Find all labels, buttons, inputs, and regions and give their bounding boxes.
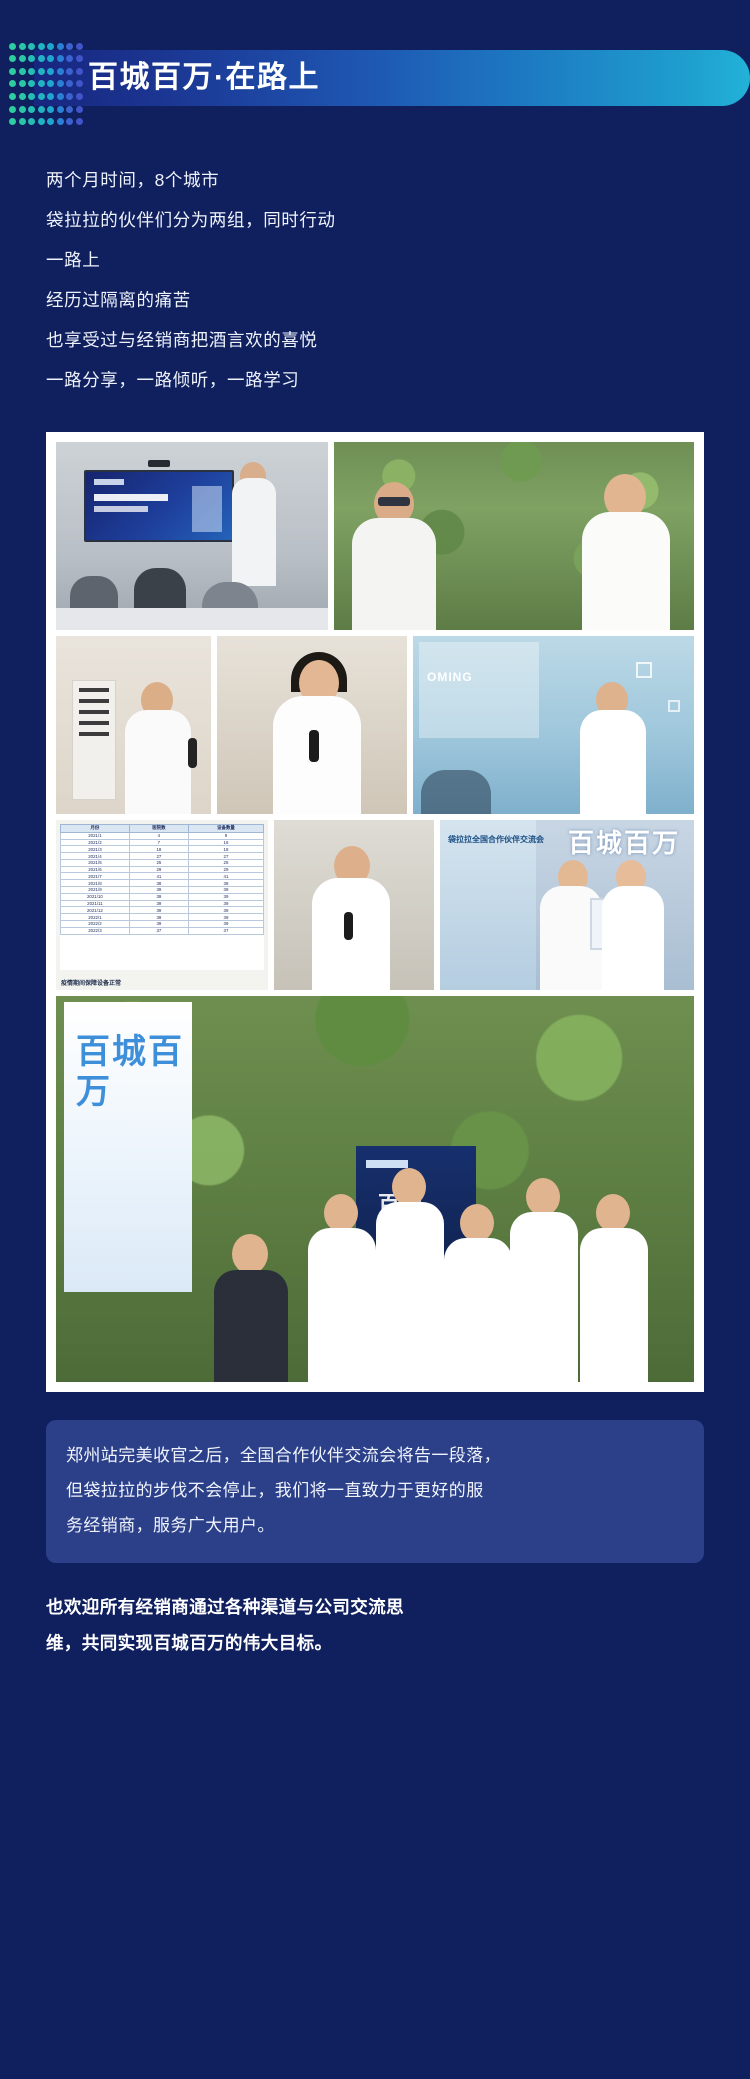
intro-line: 一路上 bbox=[46, 240, 704, 280]
collage-row-3: 月份医院数设备数量2021/1492021/27162021/318182021… bbox=[56, 820, 694, 990]
dot bbox=[57, 118, 64, 125]
table-cell: 27 bbox=[188, 853, 263, 860]
person-head bbox=[596, 1194, 630, 1232]
dot bbox=[28, 68, 35, 75]
speaker-body bbox=[232, 478, 276, 586]
dot bbox=[47, 55, 54, 62]
table-cell: 39 bbox=[129, 914, 188, 921]
backdrop-wall bbox=[440, 820, 536, 990]
page-title: 百城百万·在路上 bbox=[88, 50, 320, 106]
photo-conference-room bbox=[56, 442, 328, 630]
dot bbox=[47, 118, 54, 125]
person-head bbox=[324, 1194, 358, 1232]
closing-line: 但袋拉拉的步伐不会停止，我们将一直致力于更好的服 bbox=[66, 1473, 684, 1508]
person-head bbox=[392, 1168, 426, 1206]
table-cell: 41 bbox=[129, 873, 188, 880]
dot bbox=[28, 93, 35, 100]
table-cell: 25 bbox=[188, 859, 263, 866]
collage-row-2: OMING bbox=[56, 636, 694, 814]
header-dot-pattern-icon bbox=[8, 40, 84, 128]
dot bbox=[57, 80, 64, 87]
person-body bbox=[352, 518, 436, 630]
intro-line: 经历过隔离的痛苦 bbox=[46, 280, 704, 320]
final-statement: 也欢迎所有经销商通过各种渠道与公司交流思 维，共同实现百城百万的伟大目标。 bbox=[46, 1589, 704, 1661]
table-cell: 9 bbox=[188, 832, 263, 839]
dot bbox=[9, 68, 16, 75]
brand-logo-icon bbox=[94, 479, 124, 485]
photo-woman-speaking bbox=[217, 636, 407, 814]
table-cell: 2021/7 bbox=[61, 873, 130, 880]
hospital-device-table: 月份医院数设备数量2021/1492021/27162021/318182021… bbox=[60, 824, 264, 935]
table-row: 2021/74141 bbox=[61, 873, 264, 880]
table-row: 2022/13939 bbox=[61, 914, 264, 921]
table-cell: 39 bbox=[129, 920, 188, 927]
dot bbox=[57, 43, 64, 50]
final-line: 也欢迎所有经销商通过各种渠道与公司交流思 bbox=[46, 1589, 704, 1625]
dot bbox=[47, 43, 54, 50]
dot bbox=[66, 106, 73, 113]
table-cell: 2022/3 bbox=[61, 927, 130, 934]
photo-collage: OMING 月份医院数设备数量2021/1492021/27162021/318… bbox=[46, 432, 704, 1392]
table-row: 2021/83838 bbox=[61, 880, 264, 887]
event-poster: 百城百万 bbox=[64, 1002, 192, 1292]
person-body bbox=[510, 1212, 578, 1382]
dot bbox=[28, 43, 35, 50]
table-cell: 39 bbox=[188, 900, 263, 907]
photo-caption: 疫情期间保障设备正常 bbox=[61, 978, 121, 987]
table-cell: 29 bbox=[129, 866, 188, 873]
dot bbox=[28, 118, 35, 125]
data-table-wrapper: 月份医院数设备数量2021/1492021/27162021/318182021… bbox=[60, 824, 264, 970]
table-row: 2022/33737 bbox=[61, 927, 264, 934]
table-cell: 38 bbox=[188, 880, 263, 887]
table-cell: 27 bbox=[129, 853, 188, 860]
dot bbox=[66, 118, 73, 125]
banner-text: OMING bbox=[427, 670, 473, 684]
table-header: 医院数 bbox=[129, 825, 188, 833]
closing-line: 务经销商，服务广大用户。 bbox=[66, 1508, 684, 1543]
table-cell: 37 bbox=[129, 927, 188, 934]
dot bbox=[66, 80, 73, 87]
table-row: 2021/42727 bbox=[61, 853, 264, 860]
slide-title-bar bbox=[94, 494, 168, 501]
table-cell: 2021/11 bbox=[61, 900, 130, 907]
table-cell: 2021/6 bbox=[61, 866, 130, 873]
dot bbox=[19, 93, 26, 100]
photo-speaker-microphone bbox=[274, 820, 434, 990]
microphone-icon bbox=[188, 738, 197, 768]
air-conditioner bbox=[72, 680, 116, 800]
photo-data-table: 月份医院数设备数量2021/1492021/27162021/318182021… bbox=[56, 820, 268, 990]
table-cell: 39 bbox=[188, 920, 263, 927]
table-row: 2021/113939 bbox=[61, 900, 264, 907]
table-row: 2021/103939 bbox=[61, 893, 264, 900]
dot bbox=[38, 106, 45, 113]
table-cell: 2021/12 bbox=[61, 907, 130, 914]
person-head bbox=[526, 1178, 560, 1216]
table-cell: 2021/5 bbox=[61, 859, 130, 866]
final-line: 维，共同实现百城百万的伟大目标。 bbox=[46, 1625, 704, 1661]
table-cell: 38 bbox=[129, 880, 188, 887]
person-body bbox=[214, 1270, 288, 1382]
table-header: 设备数量 bbox=[188, 825, 263, 833]
dot bbox=[38, 93, 45, 100]
person-body bbox=[582, 512, 670, 630]
photo-group-outdoor: 百城百万 百城 bbox=[56, 996, 694, 1382]
dot bbox=[76, 118, 83, 125]
table-row: 2021/31818 bbox=[61, 846, 264, 853]
poster-text: 百城百万 bbox=[76, 1032, 192, 1112]
backdrop-big-text: 百城百万 bbox=[568, 830, 680, 856]
intro-line: 一路分享，一路倾听，一路学习 bbox=[46, 360, 704, 400]
table-cell: 37 bbox=[188, 927, 263, 934]
conference-table bbox=[56, 608, 328, 630]
person-body bbox=[376, 1202, 444, 1382]
table-cell: 41 bbox=[188, 873, 263, 880]
dot bbox=[47, 93, 54, 100]
photo-man-speaking-indoor bbox=[56, 636, 211, 814]
table-cell: 2021/1 bbox=[61, 832, 130, 839]
closing-paragraph-box: 郑州站完美收官之后，全国合作伙伴交流会将告一段落， 但袋拉拉的步伐不会停止，我们… bbox=[46, 1420, 704, 1563]
dot bbox=[76, 68, 83, 75]
person-body bbox=[580, 710, 646, 814]
backdrop-text-cn: 袋拉拉全国合作伙伴交流会 bbox=[448, 834, 544, 845]
table-row: 2022/23939 bbox=[61, 920, 264, 927]
table-cell: 39 bbox=[129, 907, 188, 914]
table-row: 2021/2716 bbox=[61, 839, 264, 846]
collage-row-1 bbox=[56, 442, 694, 630]
dot bbox=[9, 55, 16, 62]
dot bbox=[76, 55, 83, 62]
photo-two-men-outdoor bbox=[334, 442, 694, 630]
dot bbox=[19, 106, 26, 113]
table-cell: 2021/8 bbox=[61, 880, 130, 887]
dot bbox=[19, 55, 26, 62]
collage-row-4: 百城百万 百城 bbox=[56, 996, 694, 1382]
stage-banner bbox=[419, 642, 539, 738]
table-cell: 2021/4 bbox=[61, 853, 130, 860]
dot bbox=[47, 68, 54, 75]
camera-icon bbox=[148, 460, 170, 467]
dot bbox=[38, 118, 45, 125]
table-cell: 18 bbox=[188, 846, 263, 853]
dot bbox=[28, 55, 35, 62]
table-cell: 39 bbox=[188, 887, 263, 894]
table-cell: 2022/1 bbox=[61, 914, 130, 921]
dot bbox=[76, 93, 83, 100]
dot bbox=[76, 43, 83, 50]
dot bbox=[76, 106, 83, 113]
decorative-square bbox=[636, 662, 652, 678]
table-cell: 2021/9 bbox=[61, 887, 130, 894]
closing-line: 郑州站完美收官之后，全国合作伙伴交流会将告一段落， bbox=[66, 1438, 684, 1473]
table-cell: 39 bbox=[188, 893, 263, 900]
dot bbox=[19, 118, 26, 125]
person-head bbox=[460, 1204, 494, 1242]
microphone-icon bbox=[344, 912, 353, 940]
intro-paragraph: 两个月时间，8个城市 袋拉拉的伙伴们分为两组，同时行动 一路上 经历过隔离的痛苦… bbox=[46, 160, 704, 400]
table-cell: 7 bbox=[129, 839, 188, 846]
person-body bbox=[602, 886, 664, 990]
table-row: 2021/62929 bbox=[61, 866, 264, 873]
intro-line: 袋拉拉的伙伴们分为两组，同时行动 bbox=[46, 200, 704, 240]
dot bbox=[9, 80, 16, 87]
dot bbox=[9, 118, 16, 125]
glasses-icon bbox=[378, 497, 410, 506]
dot bbox=[9, 43, 16, 50]
dot bbox=[57, 106, 64, 113]
foreground-audience bbox=[421, 770, 491, 814]
page-header: 百城百万·在路上 bbox=[0, 0, 750, 148]
table-row: 2021/123939 bbox=[61, 907, 264, 914]
dot bbox=[38, 68, 45, 75]
slide-graphic bbox=[192, 486, 222, 532]
table-cell: 39 bbox=[129, 900, 188, 907]
dot bbox=[66, 68, 73, 75]
table-row: 2021/52525 bbox=[61, 859, 264, 866]
decorative-square bbox=[668, 700, 680, 712]
dot bbox=[66, 43, 73, 50]
table-row: 2021/93939 bbox=[61, 887, 264, 894]
intro-line: 也享受过与经销商把酒言欢的喜悦 bbox=[46, 320, 704, 360]
table-header: 月份 bbox=[61, 825, 130, 833]
dot bbox=[19, 80, 26, 87]
table-row: 2021/149 bbox=[61, 832, 264, 839]
table-cell: 2021/3 bbox=[61, 846, 130, 853]
dot bbox=[38, 43, 45, 50]
dot bbox=[19, 68, 26, 75]
table-cell: 39 bbox=[129, 887, 188, 894]
person-head bbox=[232, 1234, 268, 1274]
person-body bbox=[444, 1238, 512, 1382]
brand-logo-icon bbox=[366, 1160, 408, 1168]
microphone-icon bbox=[309, 730, 319, 762]
dot bbox=[28, 80, 35, 87]
person-body bbox=[580, 1228, 648, 1382]
table-cell: 18 bbox=[129, 846, 188, 853]
person-body bbox=[125, 710, 191, 814]
photo-man-stage-banner: OMING bbox=[413, 636, 694, 814]
table-cell: 39 bbox=[188, 914, 263, 921]
photo-award-presentation: 袋拉拉全国合作伙伴交流会 百城百万 bbox=[440, 820, 694, 990]
dot bbox=[57, 68, 64, 75]
presentation-screen bbox=[84, 470, 234, 542]
dot bbox=[38, 80, 45, 87]
dot bbox=[38, 55, 45, 62]
dot bbox=[28, 106, 35, 113]
table-cell: 2021/10 bbox=[61, 893, 130, 900]
table-cell: 16 bbox=[188, 839, 263, 846]
intro-line: 两个月时间，8个城市 bbox=[46, 160, 704, 200]
dot bbox=[66, 55, 73, 62]
dot bbox=[57, 55, 64, 62]
table-cell: 2021/2 bbox=[61, 839, 130, 846]
slide-subtitle-bar bbox=[94, 506, 148, 512]
dot bbox=[47, 80, 54, 87]
table-cell: 4 bbox=[129, 832, 188, 839]
dot bbox=[76, 80, 83, 87]
table-cell: 2022/2 bbox=[61, 920, 130, 927]
table-cell: 39 bbox=[188, 907, 263, 914]
dot bbox=[66, 93, 73, 100]
dot bbox=[9, 93, 16, 100]
dot bbox=[47, 106, 54, 113]
table-cell: 29 bbox=[188, 866, 263, 873]
dot bbox=[19, 43, 26, 50]
dot bbox=[57, 93, 64, 100]
person-body bbox=[308, 1228, 376, 1382]
table-cell: 39 bbox=[129, 893, 188, 900]
table-cell: 25 bbox=[129, 859, 188, 866]
dot bbox=[9, 106, 16, 113]
article-page: 百城百万·在路上 两个月时间，8个城市 袋拉拉的伙伴们分为两组，同时行动 一路上… bbox=[0, 0, 750, 2079]
